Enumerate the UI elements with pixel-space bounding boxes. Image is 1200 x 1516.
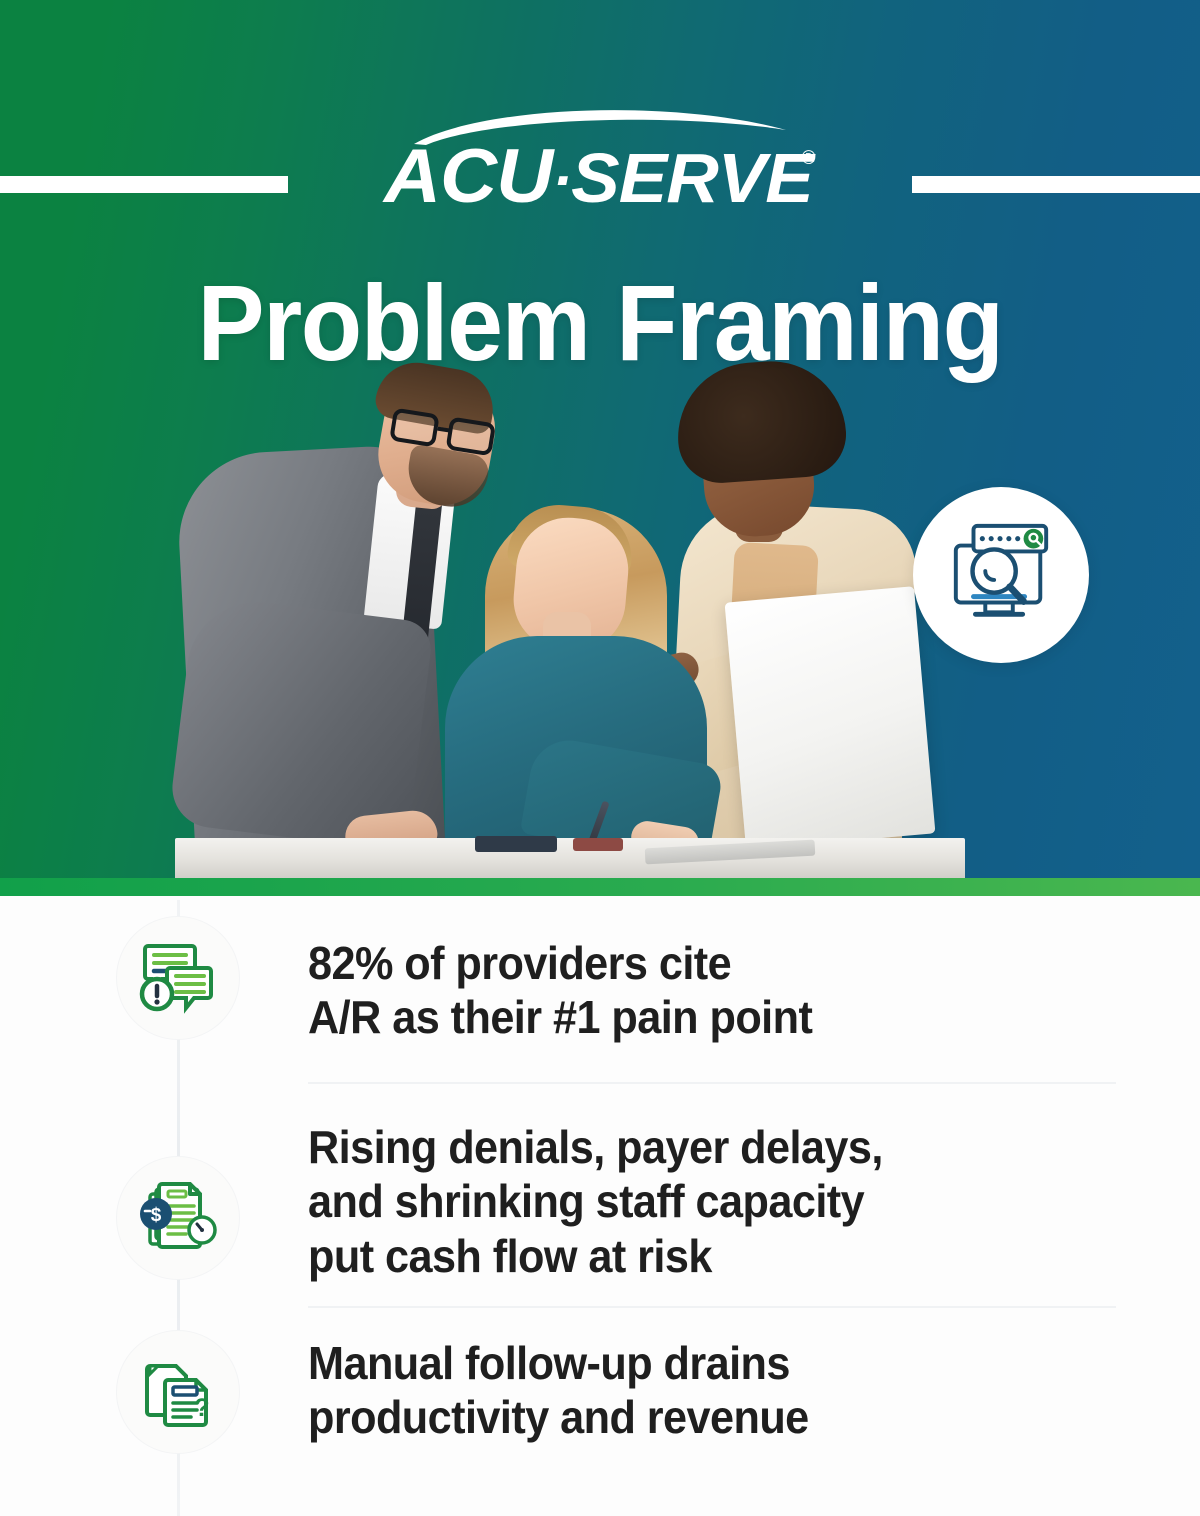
bullet-text-2: Rising denials, payer delays, and shrink…: [308, 1120, 994, 1283]
hero-accent-bar: [0, 878, 1200, 896]
logo-wordmark: ACU·SERVE: [384, 140, 813, 214]
speech-bubbles-alert-glyph: [132, 932, 224, 1024]
svg-text:$: $: [151, 1205, 162, 1226]
speech-bubbles-alert-icon: [116, 916, 240, 1040]
hero-photo: [175, 358, 965, 880]
acuserve-logo: ACU·SERVE ®: [0, 104, 1200, 224]
documents-question-icon: ?: [116, 1330, 240, 1454]
logo-swoosh-icon: [410, 104, 790, 146]
bullet-3-line-1: Manual follow-up drains: [308, 1337, 790, 1389]
invoice-dollar-delay-icon: $: [116, 1156, 240, 1280]
bullet-text-3: Manual follow-up drains productivity and…: [308, 1336, 994, 1445]
bullet-1-line-1: 82% of providers cite: [308, 937, 731, 989]
registered-trademark-symbol: ®: [802, 148, 816, 170]
bullet-2-line-3: put cash flow at risk: [308, 1230, 712, 1282]
bullet-2-line-1: Rising denials, payer delays,: [308, 1121, 883, 1173]
problem-framing-poster: ACU·SERVE ® Problem Framing: [0, 0, 1200, 1516]
invoice-dollar-delay-glyph: $: [132, 1172, 224, 1264]
photo-monitor-screen: [725, 586, 936, 850]
bullet-2-line-2: and shrinking staff capacity: [308, 1175, 864, 1227]
bullet-1-line-2: A/R as their #1 pain point: [308, 991, 812, 1043]
photo-desk-object-notebook: [475, 836, 557, 852]
monitor-search-glyph: [942, 520, 1060, 630]
logo-text-acu: ACU: [384, 134, 552, 219]
logo-separator-dot: ·: [552, 148, 571, 213]
decorative-rule-right: [912, 176, 1200, 193]
hero-section: ACU·SERVE ® Problem Framing: [0, 0, 1200, 896]
bullet-3-line-2: productivity and revenue: [308, 1391, 809, 1443]
decorative-rule-left: [0, 176, 288, 193]
bullet-text-1: 82% of providers cite A/R as their #1 pa…: [308, 936, 994, 1045]
photo-desk-object-folder: [573, 838, 623, 851]
logo-text-serve: SERVE: [572, 139, 814, 217]
page-title: Problem Framing: [42, 268, 1158, 378]
monitor-search-icon: [913, 487, 1089, 663]
documents-question-glyph: ?: [132, 1346, 224, 1438]
photo-desk: [175, 838, 965, 880]
bullet-divider-2: [308, 1306, 1116, 1308]
bullet-divider-1: [308, 1082, 1116, 1084]
svg-text:?: ?: [194, 1394, 209, 1422]
